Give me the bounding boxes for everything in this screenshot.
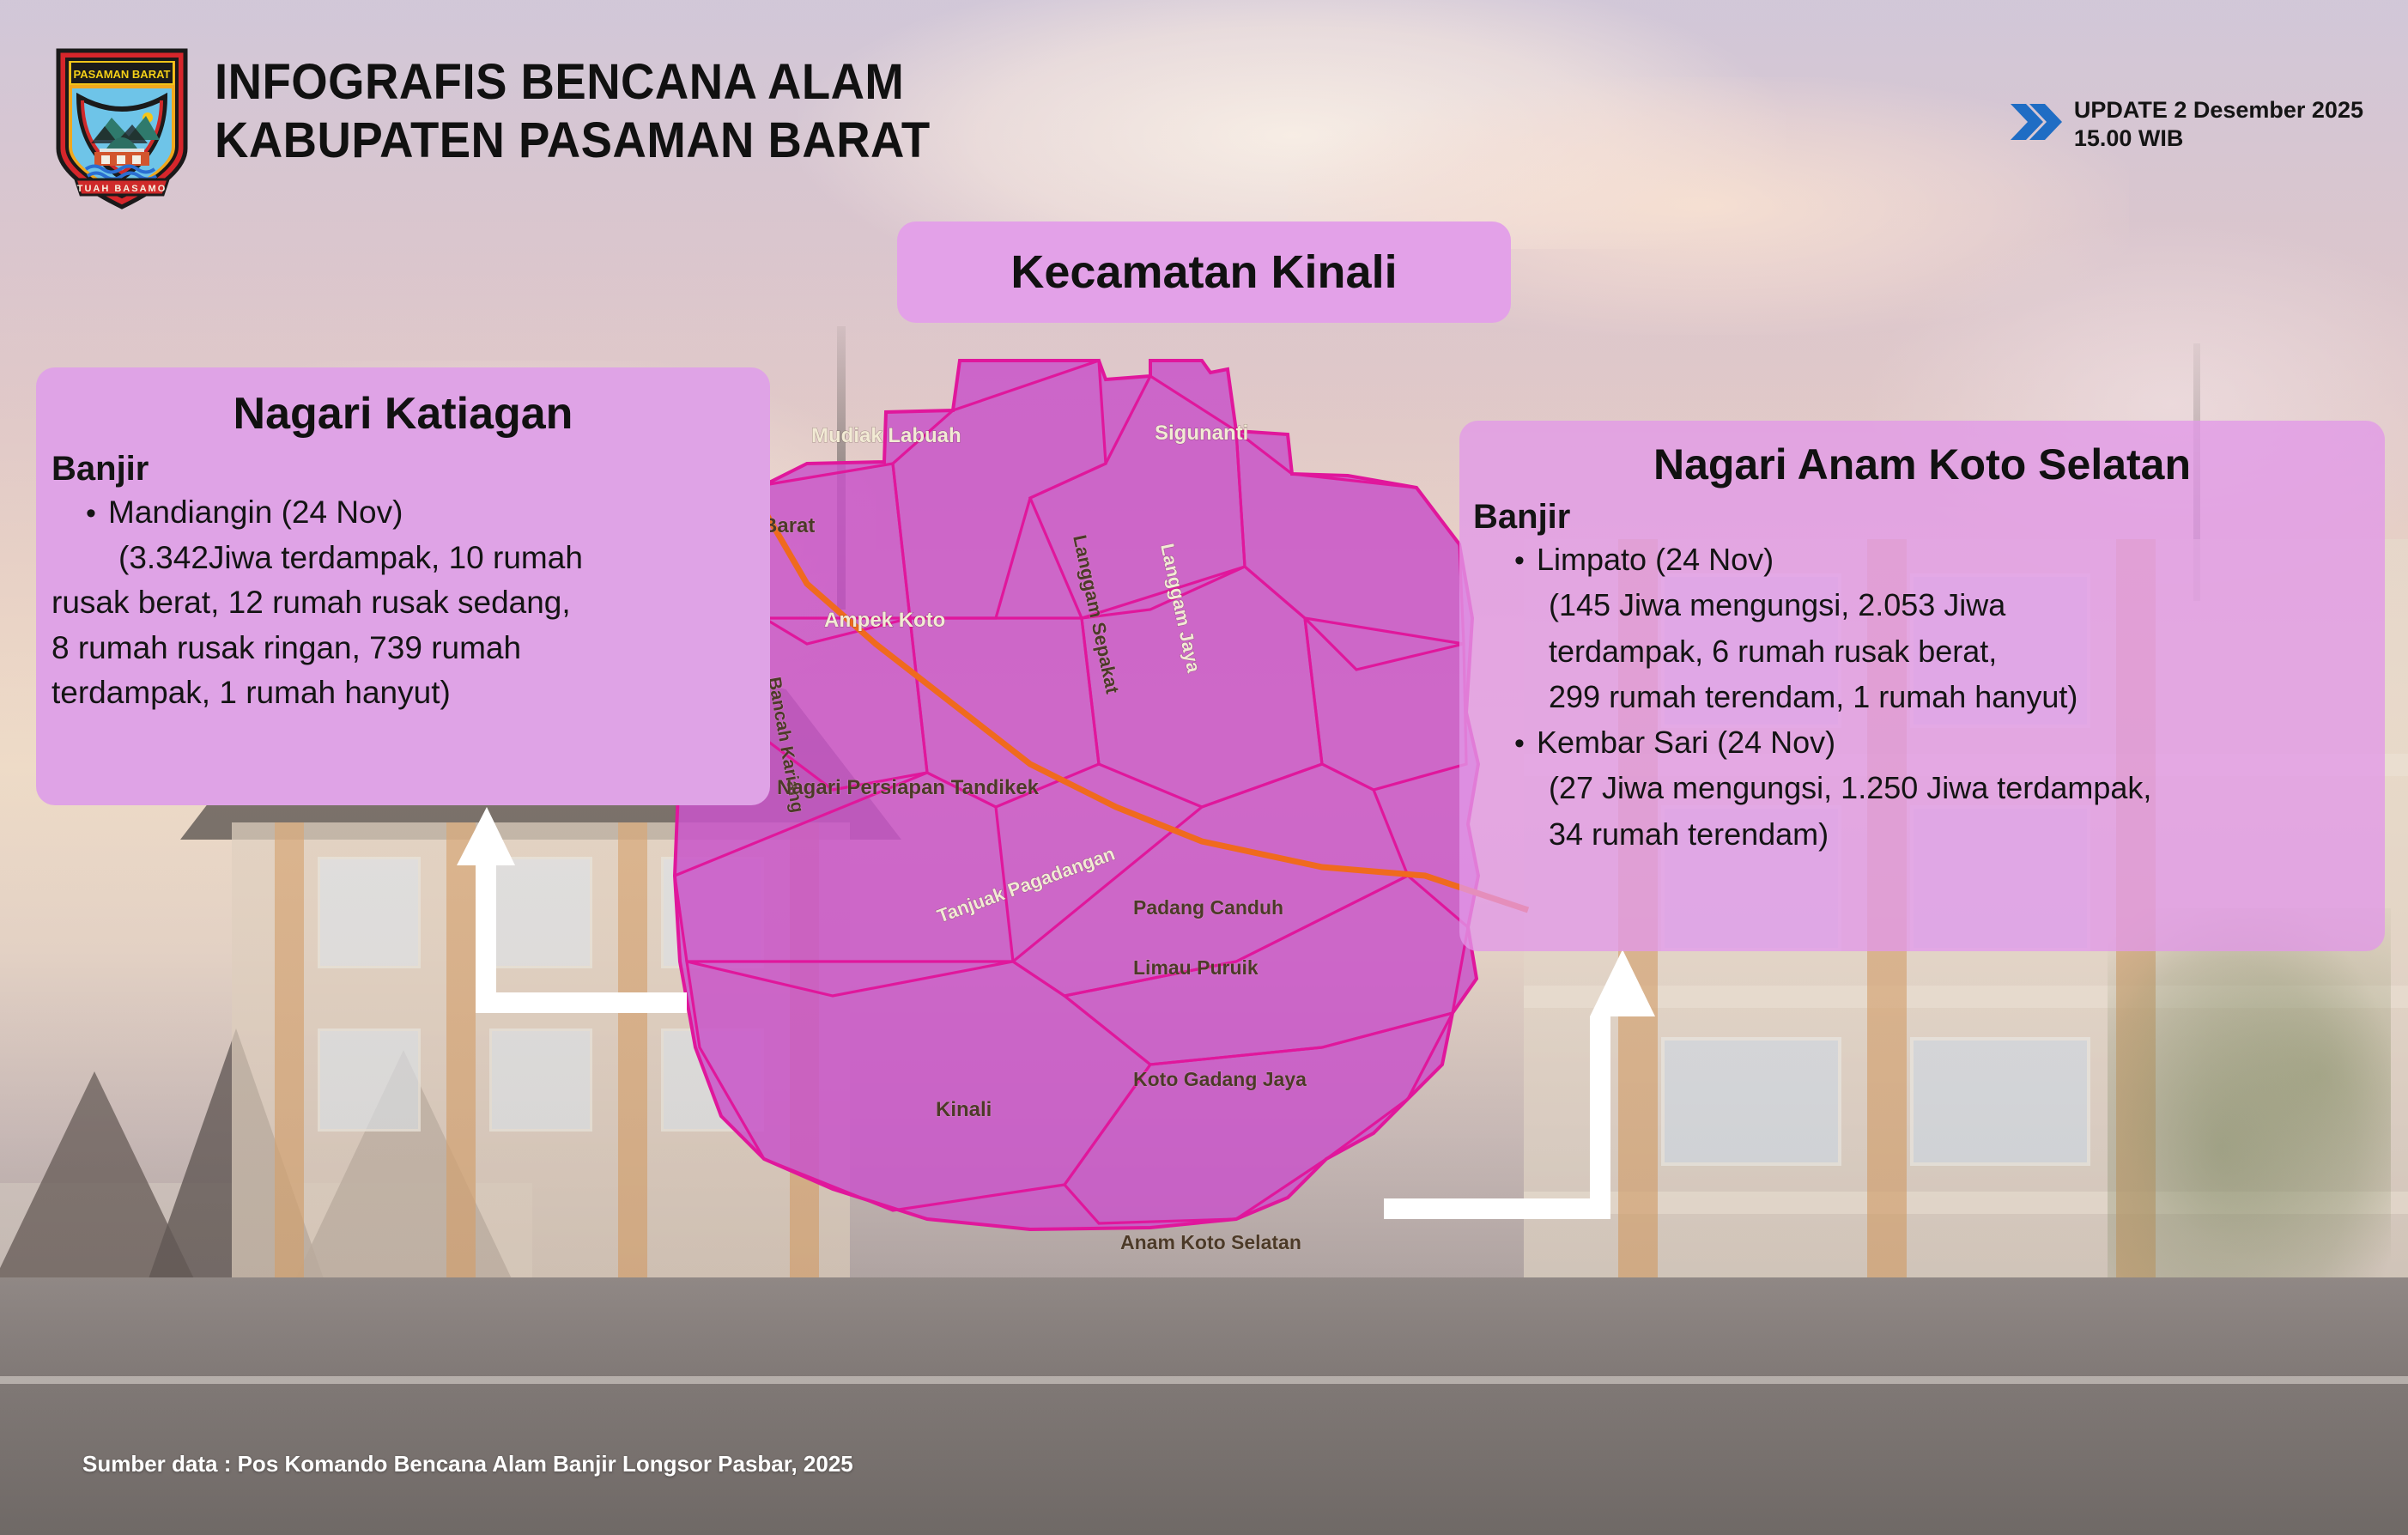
kecamatan-label: Kecamatan Kinali xyxy=(1010,246,1397,299)
detail-line: 34 rumah terendam) xyxy=(1549,811,2371,857)
panel-right-subtitle: Banjir xyxy=(1473,498,2385,537)
panel-nagari-anam-koto-selatan: Nagari Anam Koto Selatan Banjir •Limpato… xyxy=(1459,421,2385,951)
panel-left-body: •Mandiangin (24 Nov) (3.342Jiwa terdampa… xyxy=(52,490,755,716)
panel-right-title: Nagari Anam Koto Selatan xyxy=(1459,440,2385,489)
update-text: UPDATE 2 Desember 2025 15.00 WIB xyxy=(2074,96,2363,153)
pasaman-barat-crest-logo: PASAMAN BARAT TUAH BASAMO xyxy=(53,47,191,210)
double-chevron-right-icon xyxy=(2009,100,2062,148)
title-line-1: INFOGRAFIS BENCANA ALAM xyxy=(215,53,931,112)
bullet-icon: • xyxy=(1514,722,1537,765)
detail-line: terdampak, 6 rumah rusak berat, xyxy=(1549,628,2371,674)
list-item-text: Limpato (24 Nov) xyxy=(1537,542,1774,577)
list-item-text: Kembar Sari (24 Nov) xyxy=(1537,725,1835,760)
bullet-icon: • xyxy=(86,493,108,534)
title-line-2: KABUPATEN PASAMAN BARAT xyxy=(215,112,931,170)
map-label: Limau Puruik xyxy=(1133,956,1259,979)
list-item: •Limpato (24 Nov) xyxy=(1514,537,2371,582)
map-label: Ampek Koto xyxy=(824,609,945,632)
detail-line: 8 rumah rusak ringan, 739 rumah xyxy=(52,626,755,671)
map-label: Mudiak Labuah xyxy=(811,424,961,447)
bullet-icon: • xyxy=(1514,539,1537,582)
panel-nagari-katiagan: Nagari Katiagan Banjir •Mandiangin (24 N… xyxy=(36,367,770,805)
map-label: Kinali xyxy=(936,1098,992,1121)
detail-line: (3.342Jiwa terdampak, 10 rumah xyxy=(118,536,755,581)
detail-line: (145 Jiwa mengungsi, 2.053 Jiwa xyxy=(1549,582,2371,628)
panel-left-title: Nagari Katiagan xyxy=(36,388,770,440)
map-label: Anam Koto Selatan xyxy=(1120,1231,1301,1253)
detail-line: terdampak, 1 rumah hanyut) xyxy=(52,670,755,716)
callout-arrow-right xyxy=(1288,936,1674,1253)
detail-line: 299 rumah terendam, 1 rumah hanyut) xyxy=(1549,674,2371,719)
source-note: Sumber data : Pos Komando Bencana Alam B… xyxy=(82,1451,853,1477)
panel-right-body: •Limpato (24 Nov) (145 Jiwa mengungsi, 2… xyxy=(1473,537,2371,857)
page-title: INFOGRAFIS BENCANA ALAM KABUPATEN PASAMA… xyxy=(215,53,931,171)
detail-line: (27 Jiwa mengungsi, 1.250 Jiwa terdampak… xyxy=(1549,765,2371,810)
map-label: Padang Canduh xyxy=(1133,896,1283,919)
update-timestamp: UPDATE 2 Desember 2025 15.00 WIB xyxy=(2009,96,2363,153)
map-label: Nagari Persiapan Tandikek xyxy=(777,776,1040,799)
crest-ribbon-text: TUAH BASAMO xyxy=(77,184,167,194)
map-label: Koto Gadang Jaya xyxy=(1133,1068,1307,1090)
update-line-1: UPDATE 2 Desember 2025 xyxy=(2074,96,2363,124)
crest-top-text: PASAMAN BARAT xyxy=(74,68,171,81)
update-line-2: 15.00 WIB xyxy=(2074,124,2363,153)
kecamatan-title-badge: Kecamatan Kinali xyxy=(897,221,1511,323)
page-header: PASAMAN BARAT TUAH BASAMO INFOGRAFIS BEN… xyxy=(0,0,2408,215)
list-item: •Mandiangin (24 Nov) xyxy=(86,490,755,536)
detail-line: rusak berat, 12 rumah rusak sedang, xyxy=(52,580,755,626)
list-item: •Kembar Sari (24 Nov) xyxy=(1514,719,2371,765)
map-label: Sigunanti xyxy=(1155,422,1248,445)
panel-left-subtitle: Banjir xyxy=(52,450,770,488)
list-item-text: Mandiangin (24 Nov) xyxy=(108,494,403,530)
